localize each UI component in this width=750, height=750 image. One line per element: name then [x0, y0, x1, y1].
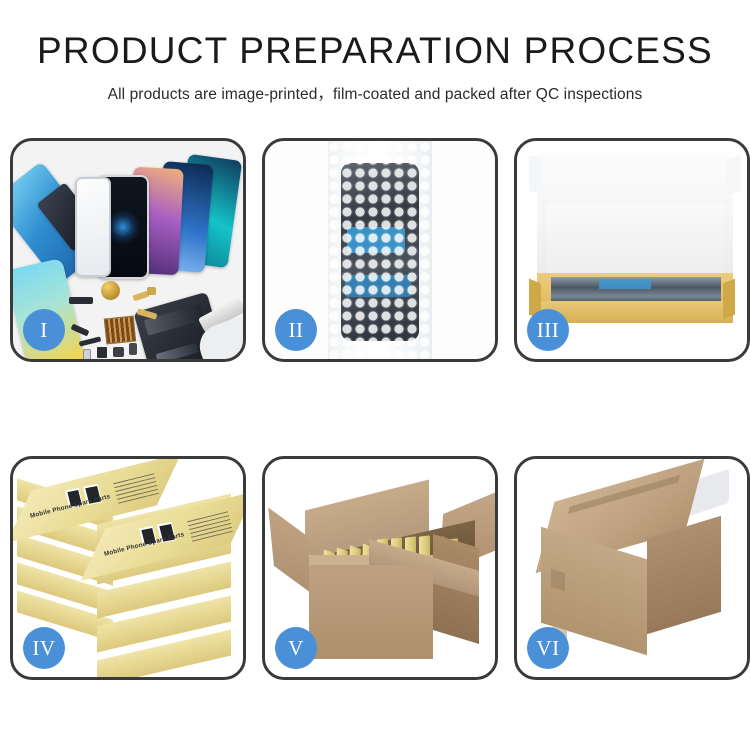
- bubble-texture: [328, 141, 432, 359]
- carton-front-face: [309, 565, 433, 659]
- process-step-panel-2: II: [262, 138, 498, 362]
- process-step-panel-6: VI: [514, 456, 750, 680]
- process-steps-grid: I II III: [10, 138, 745, 680]
- step-badge-3: III: [527, 309, 569, 351]
- step-badge-2: II: [275, 309, 317, 351]
- foam-liner: [543, 201, 727, 281]
- step-badge-1: I: [23, 309, 65, 351]
- process-step-panel-4: Mobile Phone Spare Parts Mobile Phone Sp…: [10, 456, 246, 680]
- spare-part: [83, 349, 91, 359]
- process-step-panel-1: I: [10, 138, 246, 362]
- flex-cable-part: [147, 287, 156, 295]
- tempered-glass-sheet: [75, 177, 111, 277]
- step-badge-4: IV: [23, 627, 65, 669]
- vibration-motor-part: [101, 281, 120, 300]
- process-step-panel-3: III: [514, 138, 750, 362]
- wrapped-product-in-box: [551, 277, 721, 303]
- step-badge-6: VI: [527, 627, 569, 669]
- carton-tape-mark: [551, 569, 565, 591]
- spare-part: [113, 347, 124, 357]
- process-step-panel-5: V: [262, 456, 498, 680]
- step-badge-5: V: [275, 627, 317, 669]
- spare-part: [69, 297, 93, 304]
- page-header: PRODUCT PREPARATION PROCESS All products…: [0, 0, 750, 104]
- spare-part: [97, 347, 107, 358]
- connector-chip-grid: [104, 316, 137, 345]
- page-title: PRODUCT PREPARATION PROCESS: [0, 30, 750, 73]
- page-subtitle: All products are image-printed，film-coat…: [0, 82, 750, 104]
- spare-part: [129, 343, 137, 355]
- kraft-box-right-edge: [723, 279, 735, 320]
